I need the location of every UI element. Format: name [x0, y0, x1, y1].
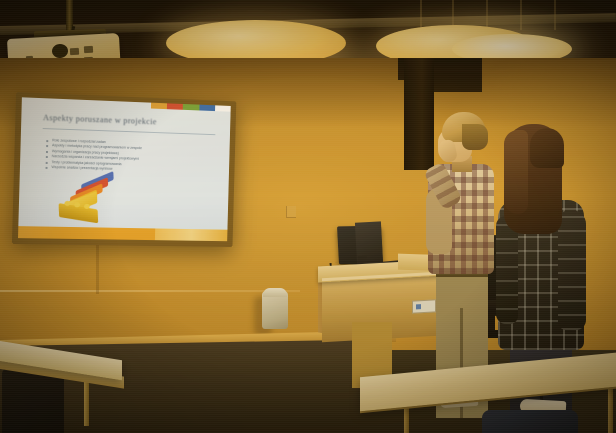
foreground-chair-right	[482, 410, 578, 433]
projector-vent	[84, 46, 93, 53]
female-hair-top	[530, 128, 564, 168]
slide-footer-accent	[155, 228, 228, 241]
presentation-slide: Aspekty poruszane w projekcie Role zespo…	[18, 97, 231, 241]
slide-title-rule	[43, 128, 216, 135]
waste-bin-lid	[263, 288, 287, 297]
ceiling-slat	[486, 0, 488, 30]
ceiling-slat	[520, 0, 522, 30]
female-arm-right	[558, 210, 586, 330]
ceiling-slat	[554, 0, 556, 30]
photo-scene: Aspekty poruszane w projekcie Role zespo…	[0, 0, 616, 433]
projection-screen: Aspekty poruszane w projekcie Role zespo…	[12, 92, 236, 247]
wall-panel-seam	[0, 290, 300, 292]
column-step	[430, 72, 482, 92]
lego-bricks-icon	[56, 175, 127, 222]
ceiling-slat	[420, 0, 422, 30]
projector-vent	[70, 48, 79, 55]
wall-switch	[286, 206, 296, 218]
slide-title: Aspekty poruszane w projekcie	[43, 112, 220, 128]
male-hair-side	[462, 124, 488, 150]
slide-bullet-list: Role zespolowe i rozpodzial zadan Aspekt…	[45, 138, 220, 175]
female-hair-front	[504, 130, 528, 214]
